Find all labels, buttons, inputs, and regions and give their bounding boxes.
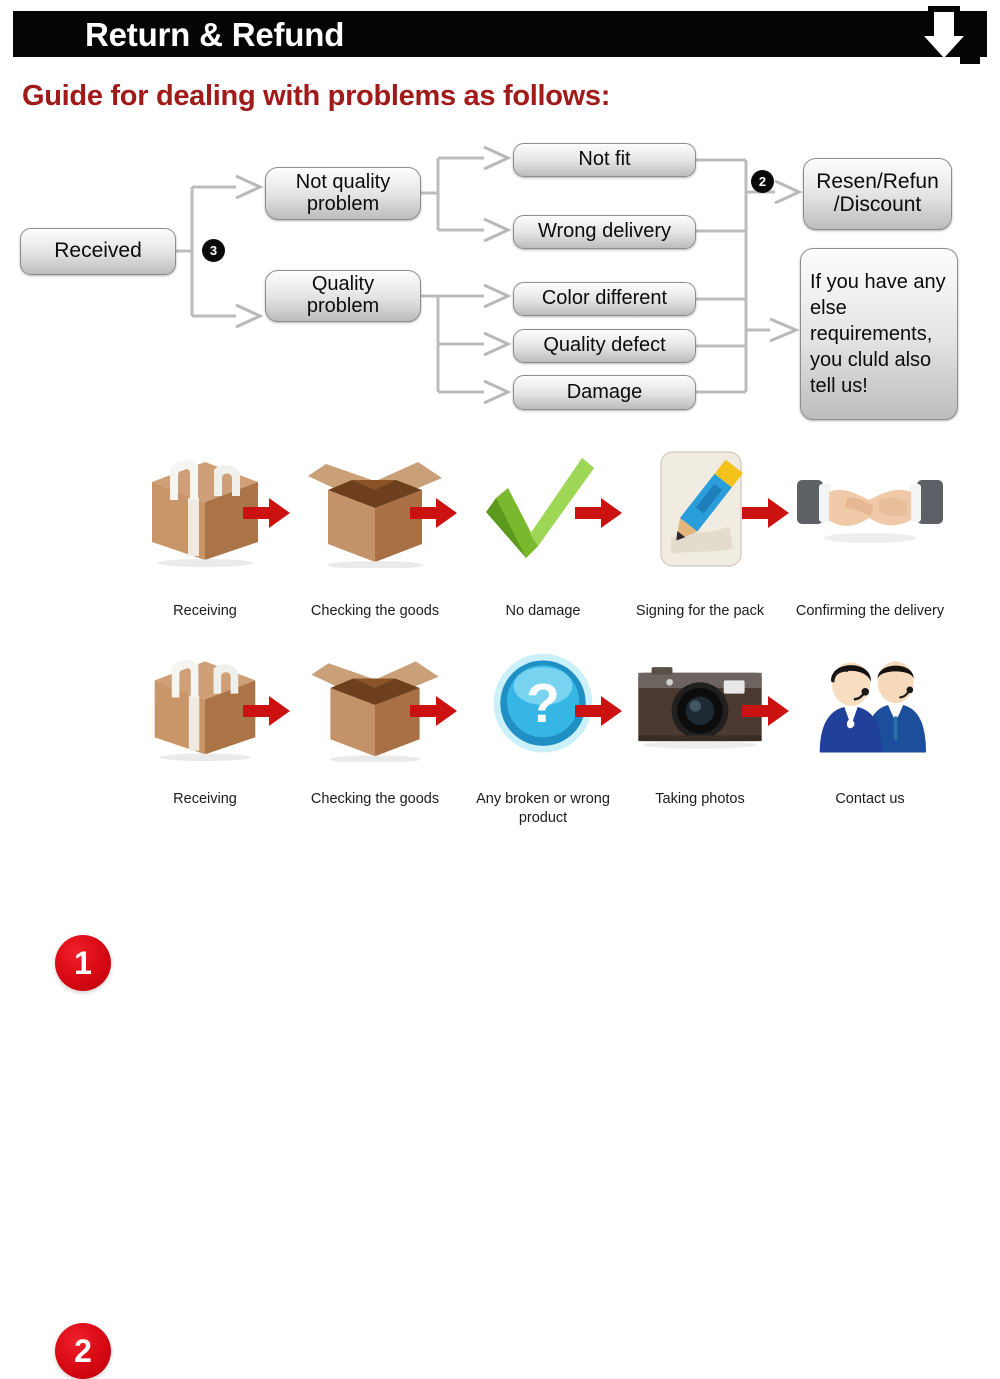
step-item: Checking the goods bbox=[300, 640, 450, 830]
step-caption: Taking photos bbox=[613, 790, 787, 809]
flow-node-quality-problem[interactable]: Quality problem bbox=[265, 270, 421, 322]
step-caption: Any broken or wrong product bbox=[456, 790, 630, 827]
step-item: Contact us bbox=[795, 640, 945, 830]
step-item: No damage bbox=[468, 450, 618, 640]
flow-node-label: Resen/Refun /Discount bbox=[816, 171, 939, 216]
support-agents-icon bbox=[795, 650, 945, 762]
step-caption: Receiving bbox=[118, 602, 292, 621]
flow-node-label: Quality problem bbox=[307, 274, 379, 317]
step-caption: Checking the goods bbox=[288, 790, 462, 809]
flow-node-color-different[interactable]: Color different bbox=[513, 282, 696, 316]
flow-node-not-fit[interactable]: Not fit bbox=[513, 143, 696, 177]
step-item: Confirming the delivery bbox=[795, 450, 945, 640]
red-arrow-icon bbox=[410, 694, 458, 728]
red-arrow-icon bbox=[742, 694, 790, 728]
flow-node-resend-refund-discount[interactable]: Resen/Refun /Discount bbox=[803, 158, 952, 230]
step-row-badge-1: 1 bbox=[55, 935, 111, 991]
flow-badge-two: 2 bbox=[752, 171, 773, 192]
step-row-2: 2 Receiving bbox=[0, 640, 1000, 830]
down-arrow-icon bbox=[908, 6, 980, 64]
step-item: ? Any broken or wrong product bbox=[468, 640, 618, 830]
step-row-1: 1 Receiving bbox=[0, 450, 1000, 640]
flow-node-not-quality-problem[interactable]: Not quality problem bbox=[265, 167, 421, 220]
step-item: Signing for the pack bbox=[625, 450, 775, 640]
flow-node-label: Not quality problem bbox=[296, 172, 391, 215]
flow-node-wrong-delivery[interactable]: Wrong delivery bbox=[513, 215, 696, 249]
step-caption: Checking the goods bbox=[288, 602, 462, 621]
flow-node-quality-defect[interactable]: Quality defect bbox=[513, 329, 696, 363]
red-arrow-icon bbox=[243, 496, 291, 530]
red-arrow-icon bbox=[575, 694, 623, 728]
svg-text:?: ? bbox=[526, 672, 560, 734]
step-item: Checking the goods bbox=[300, 450, 450, 640]
page-title: Return & Refund bbox=[85, 14, 685, 56]
flowchart: Received Not quality problem Quality pro… bbox=[0, 130, 1000, 430]
step-caption: No damage bbox=[456, 602, 630, 621]
handshake-icon bbox=[795, 450, 945, 568]
step-caption: Contact us bbox=[783, 790, 957, 809]
step-item: Receiving bbox=[130, 450, 280, 640]
step-row-badge-2: 2 bbox=[55, 1323, 111, 1379]
flow-node-damage[interactable]: Damage bbox=[513, 375, 696, 410]
guide-heading: Guide for dealing with problems as follo… bbox=[22, 80, 610, 113]
step-caption: Confirming the delivery bbox=[783, 602, 957, 621]
flow-node-received[interactable]: Received bbox=[20, 228, 176, 275]
step-item: Taking photos bbox=[625, 640, 775, 830]
red-arrow-icon bbox=[575, 496, 623, 530]
red-arrow-icon bbox=[410, 496, 458, 530]
flow-badge-three: 3 bbox=[203, 240, 224, 261]
step-caption: Signing for the pack bbox=[613, 602, 787, 621]
step-caption: Receiving bbox=[118, 790, 292, 809]
flow-node-if-you-have-requirements[interactable]: If you have any else requirements, you c… bbox=[800, 248, 958, 420]
step-item: Receiving bbox=[130, 640, 280, 830]
return-refund-infographic: Return & Refund Guide for dealing with p… bbox=[0, 0, 1000, 841]
red-arrow-icon bbox=[243, 694, 291, 728]
red-arrow-icon bbox=[742, 496, 790, 530]
